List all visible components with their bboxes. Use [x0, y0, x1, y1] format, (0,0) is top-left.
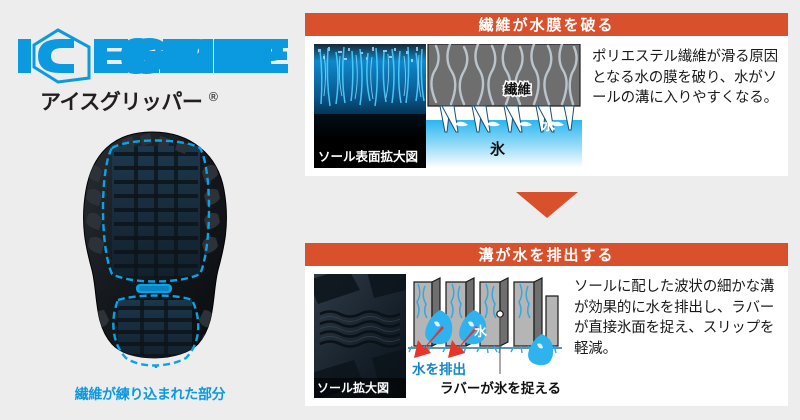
logo-wordmark-gripper — [118, 28, 288, 84]
fiber-figure: ソール表面拡大図 — [314, 44, 582, 168]
label-ice: 氷 — [490, 140, 506, 158]
brand-subtitle: アイスグリッパー® — [40, 86, 219, 116]
fiber-diagram: ソール表面拡大図 — [314, 44, 582, 168]
registered-mark: ® — [207, 90, 219, 104]
groove-figure: ソール拡大図 — [314, 274, 564, 398]
label-drain: 水を排出 — [412, 361, 466, 378]
sole-closeup-photo — [314, 274, 418, 398]
groove-schematic: 水 水を排出 ラバーが氷を捉える — [406, 274, 564, 398]
photo-label-sole-surface: ソール表面拡大図 — [318, 149, 418, 164]
label-fiber: 繊維 — [504, 81, 532, 98]
panel-groove-body: ソール拡大図 — [305, 266, 788, 406]
panel-fiber-description: ポリエステル繊維が滑る原因となる水の膜を破り、水がソールの溝に入りやすくなる。 — [582, 44, 780, 168]
sole-graphic — [52, 128, 262, 368]
label-water: 水 — [542, 118, 556, 134]
label-water-2: 水 — [474, 324, 488, 340]
flow-arrow-down-icon — [516, 192, 578, 218]
shoe-sole-image — [52, 128, 262, 368]
panel-fiber-body: ソール表面拡大図 — [305, 36, 788, 176]
brand-column: ICE GRIPPER アイスグリッパー® — [0, 0, 300, 420]
panel-fiber-title: 繊維が水膜を破る — [305, 13, 788, 36]
panel-groove-description: ソールに配した波状の細かな溝が効果的に水を排出し、ラバーが直接氷面を捉え、スリッ… — [564, 274, 780, 398]
groove-diagram: ソール拡大図 — [314, 274, 564, 398]
label-rubber-grips: ラバーが氷を捉える — [440, 380, 561, 397]
infographic-root: ICE GRIPPER アイスグリッパー® — [0, 0, 800, 420]
brand-subtitle-text: アイスグリッパー — [40, 90, 202, 114]
photo-label-sole-closeup: ソール拡大図 — [317, 380, 389, 395]
panel-fiber: 繊維が水膜を破る — [305, 13, 788, 176]
panel-groove-title: 溝が水を排出する — [305, 243, 788, 266]
sole-caption: 繊維が練り込まれた部分 — [0, 384, 300, 404]
fiber-schematic: 繊維 水 氷 — [426, 44, 582, 168]
panel-groove: 溝が水を排出する — [305, 243, 788, 406]
